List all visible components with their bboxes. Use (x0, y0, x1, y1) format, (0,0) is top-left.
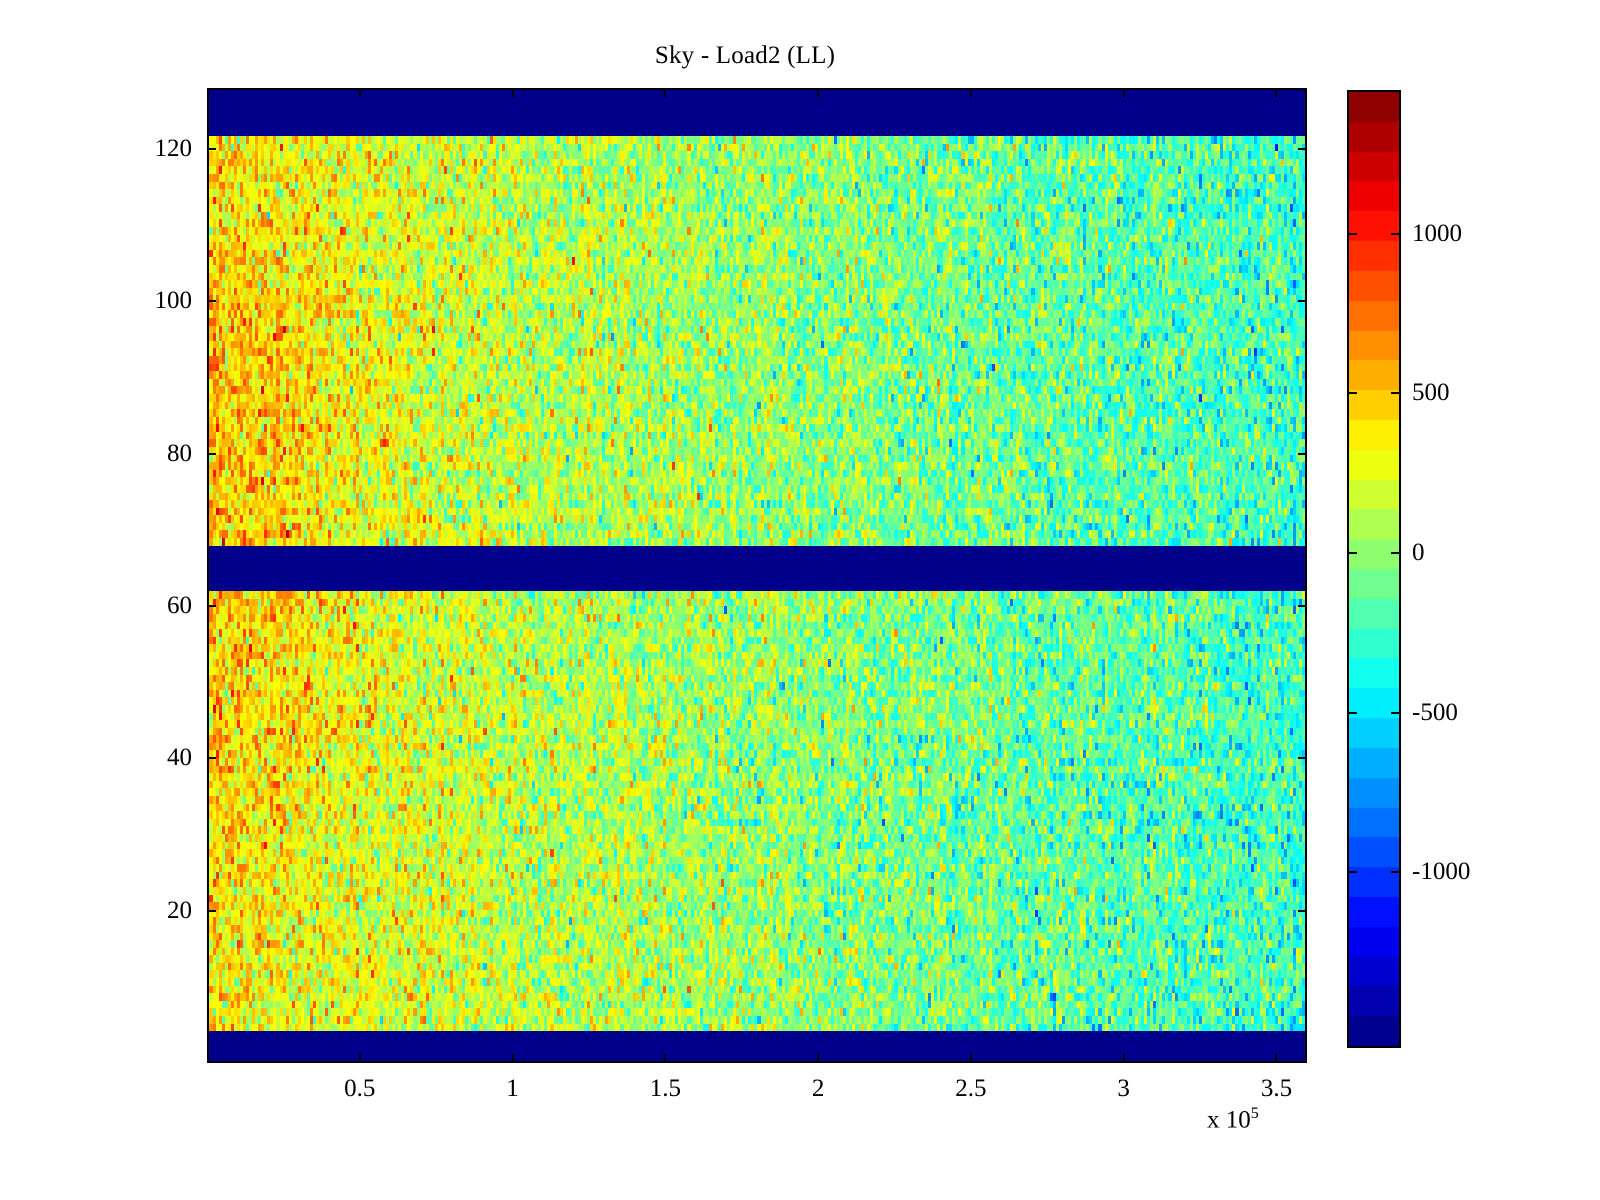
y-tick-label: 120 (155, 135, 193, 163)
colorbar[interactable] (1347, 90, 1401, 1048)
x-tick-label: 2.5 (955, 1075, 986, 1103)
y-tick-mark-right (1298, 910, 1307, 912)
x-tick-label: 3 (1117, 1075, 1130, 1103)
y-tick-mark (207, 453, 216, 455)
y-tick-mark (207, 300, 216, 302)
x-axis-exponent-label: x 105 (1207, 1105, 1259, 1134)
y-tick-label: 20 (167, 897, 192, 925)
x-tick-label: 3.5 (1261, 1075, 1292, 1103)
y-tick-mark-right (1298, 300, 1307, 302)
x-tick-mark (1123, 1054, 1125, 1063)
heatmap-image (209, 90, 1305, 1061)
y-tick-mark-right (1298, 605, 1307, 607)
x-tick-mark (512, 1054, 514, 1063)
x-tick-mark-top (817, 88, 819, 97)
x-tick-label: 0.5 (344, 1075, 375, 1103)
y-tick-mark (207, 910, 216, 912)
colorbar-tick-label: 1000 (1412, 220, 1462, 248)
y-tick-mark (207, 605, 216, 607)
x-tick-label: 1.5 (650, 1075, 681, 1103)
colorbar-tick-label: 0 (1412, 539, 1425, 567)
x-tick-mark (359, 1054, 361, 1063)
colorbar-gradient (1349, 92, 1399, 1046)
x-tick-label: 1 (506, 1075, 519, 1103)
colorbar-tick-label: 500 (1412, 379, 1450, 407)
x-exponent-base: x 10 (1207, 1106, 1251, 1133)
x-tick-mark-top (359, 88, 361, 97)
x-tick-label: 2 (812, 1075, 825, 1103)
page-title: Sky - Load2 (LL) (0, 42, 1490, 70)
x-tick-mark-top (1123, 88, 1125, 97)
y-tick-mark-right (1298, 148, 1307, 150)
figure-canvas: Sky - Load2 (LL) 20406080100120 0.511.52… (0, 0, 1600, 1200)
colorbar-tick-label: -1000 (1412, 858, 1470, 886)
y-axis-tick-labels: 20406080100120 (120, 0, 192, 1200)
x-exponent-power: 5 (1251, 1105, 1259, 1122)
x-tick-mark-top (664, 88, 666, 97)
x-tick-mark-top (1275, 88, 1277, 97)
x-tick-mark (817, 1054, 819, 1063)
y-tick-mark-right (1298, 453, 1307, 455)
y-tick-mark-right (1298, 757, 1307, 759)
colorbar-tick-label: -500 (1412, 699, 1458, 727)
y-tick-label: 100 (155, 287, 193, 315)
x-tick-mark (1275, 1054, 1277, 1063)
x-tick-mark-top (512, 88, 514, 97)
heatmap-plot-area[interactable] (207, 88, 1307, 1063)
y-tick-mark (207, 757, 216, 759)
x-axis-tick-labels: 0.511.522.533.5 (0, 1075, 1600, 1115)
y-tick-mark (207, 148, 216, 150)
x-tick-mark-top (970, 88, 972, 97)
y-tick-label: 60 (167, 592, 192, 620)
x-tick-mark (664, 1054, 666, 1063)
y-tick-label: 40 (167, 744, 192, 772)
x-tick-mark (970, 1054, 972, 1063)
y-tick-label: 80 (167, 440, 192, 468)
